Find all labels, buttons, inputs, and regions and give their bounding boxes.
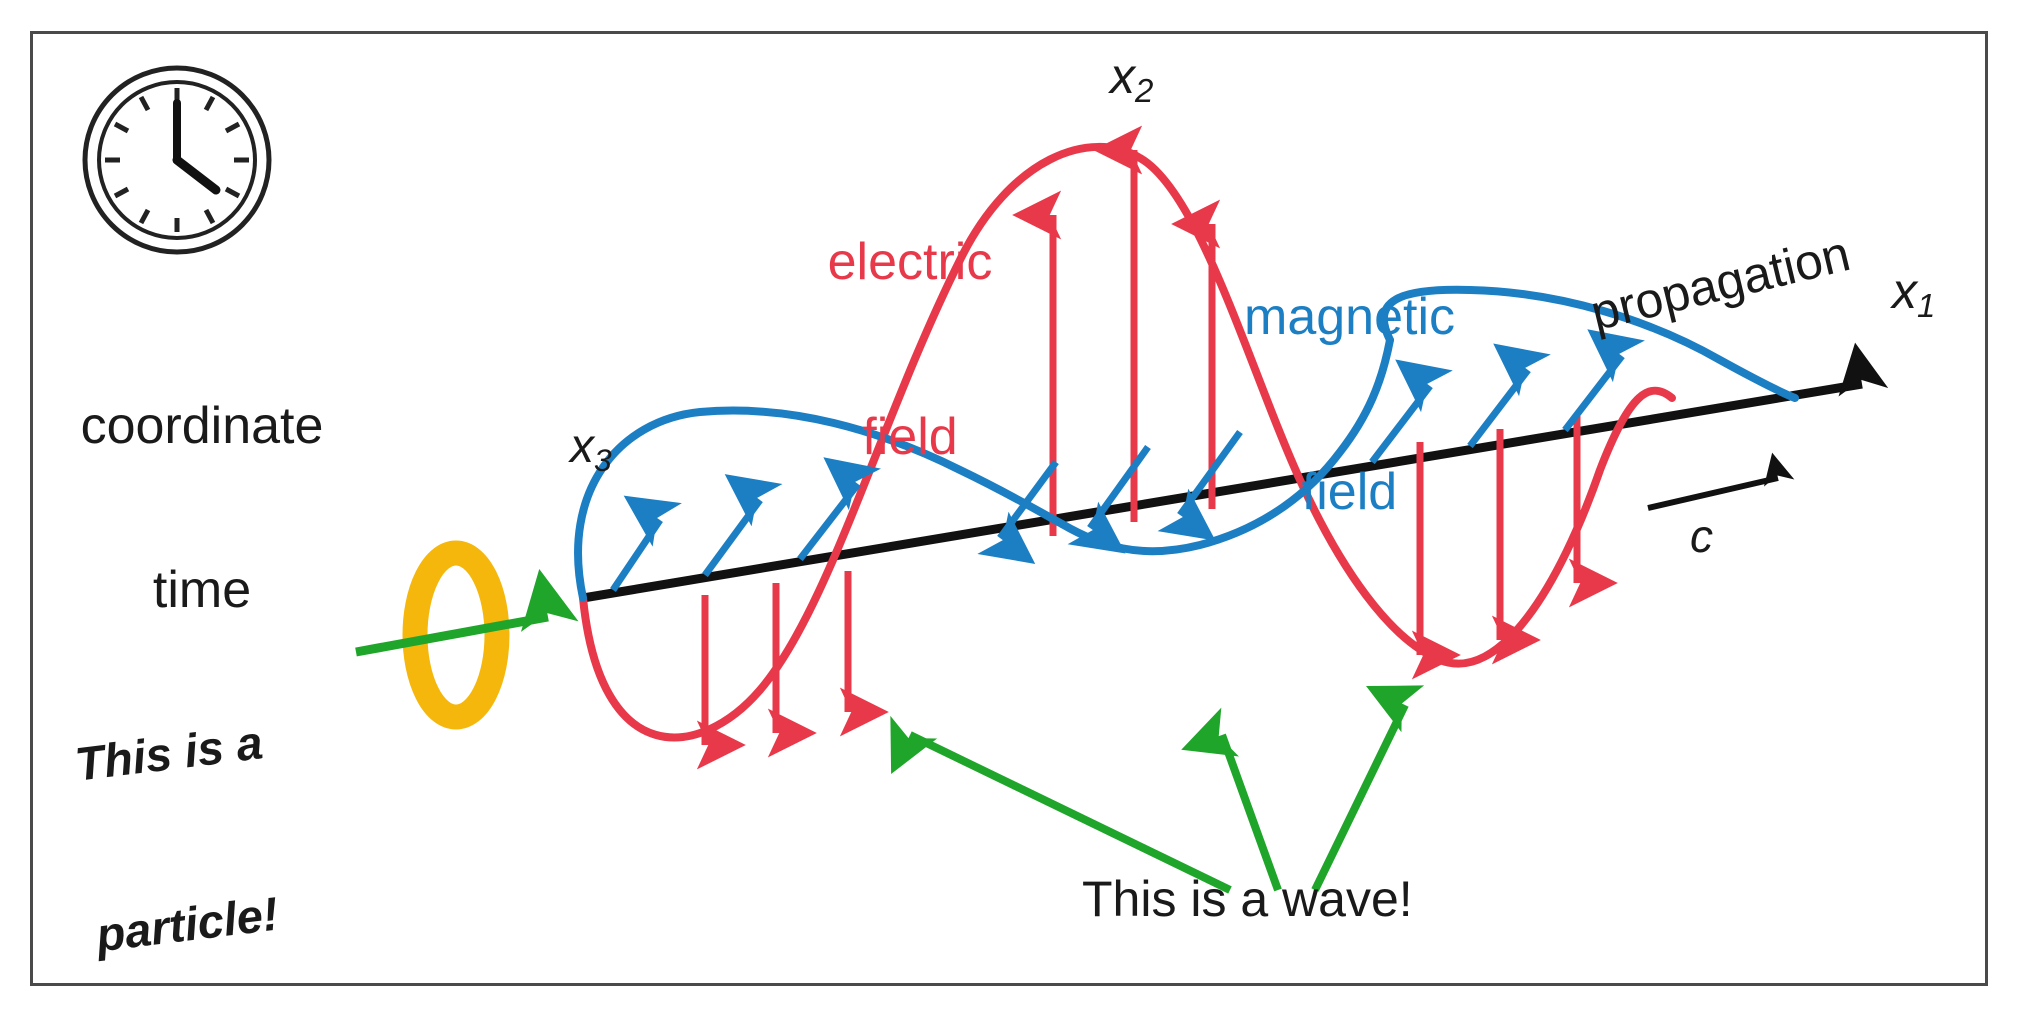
axis-label-x1: x1 bbox=[1892, 265, 1935, 324]
axis-label-x3: x3 bbox=[570, 422, 612, 477]
axis-label-x3-sub: 3 bbox=[594, 442, 612, 478]
electric-field-label: electric field bbox=[790, 117, 1030, 583]
magnetic-field-label-line1: magnetic bbox=[1232, 288, 1467, 346]
clock-icon bbox=[85, 68, 269, 252]
diagram-canvas: coordinate time This is a particle! This… bbox=[0, 0, 2022, 1026]
small-arrow-right-icon bbox=[1648, 478, 1778, 508]
axis-label-x1-base: x bbox=[1892, 263, 1917, 319]
axis-label-x2-sub: 2 bbox=[1135, 72, 1153, 109]
coordinate-time-line1: coordinate bbox=[62, 399, 342, 454]
axis-label-x3-base: x bbox=[570, 420, 594, 473]
axis-label-x2: x2 bbox=[1110, 50, 1153, 109]
magnetic-field-label: magnetic field bbox=[1232, 172, 1467, 638]
electric-field-label-line2: field bbox=[790, 408, 1030, 466]
axis-label-x1-sub: 1 bbox=[1917, 287, 1935, 324]
axis-label-x2-base: x bbox=[1110, 48, 1135, 104]
wave-callout: This is a wave! bbox=[1082, 873, 1413, 926]
particle-callout-line1: This is a bbox=[72, 713, 266, 793]
green-arrow-right-icon bbox=[356, 617, 548, 652]
electric-field-label-line1: electric bbox=[790, 233, 1030, 291]
green-arrow-icon bbox=[910, 705, 1405, 890]
particle-callout-line2: particle! bbox=[93, 884, 287, 964]
speed-of-light-label: c bbox=[1690, 512, 1713, 560]
magnetic-field-label-line2: field bbox=[1232, 463, 1467, 521]
